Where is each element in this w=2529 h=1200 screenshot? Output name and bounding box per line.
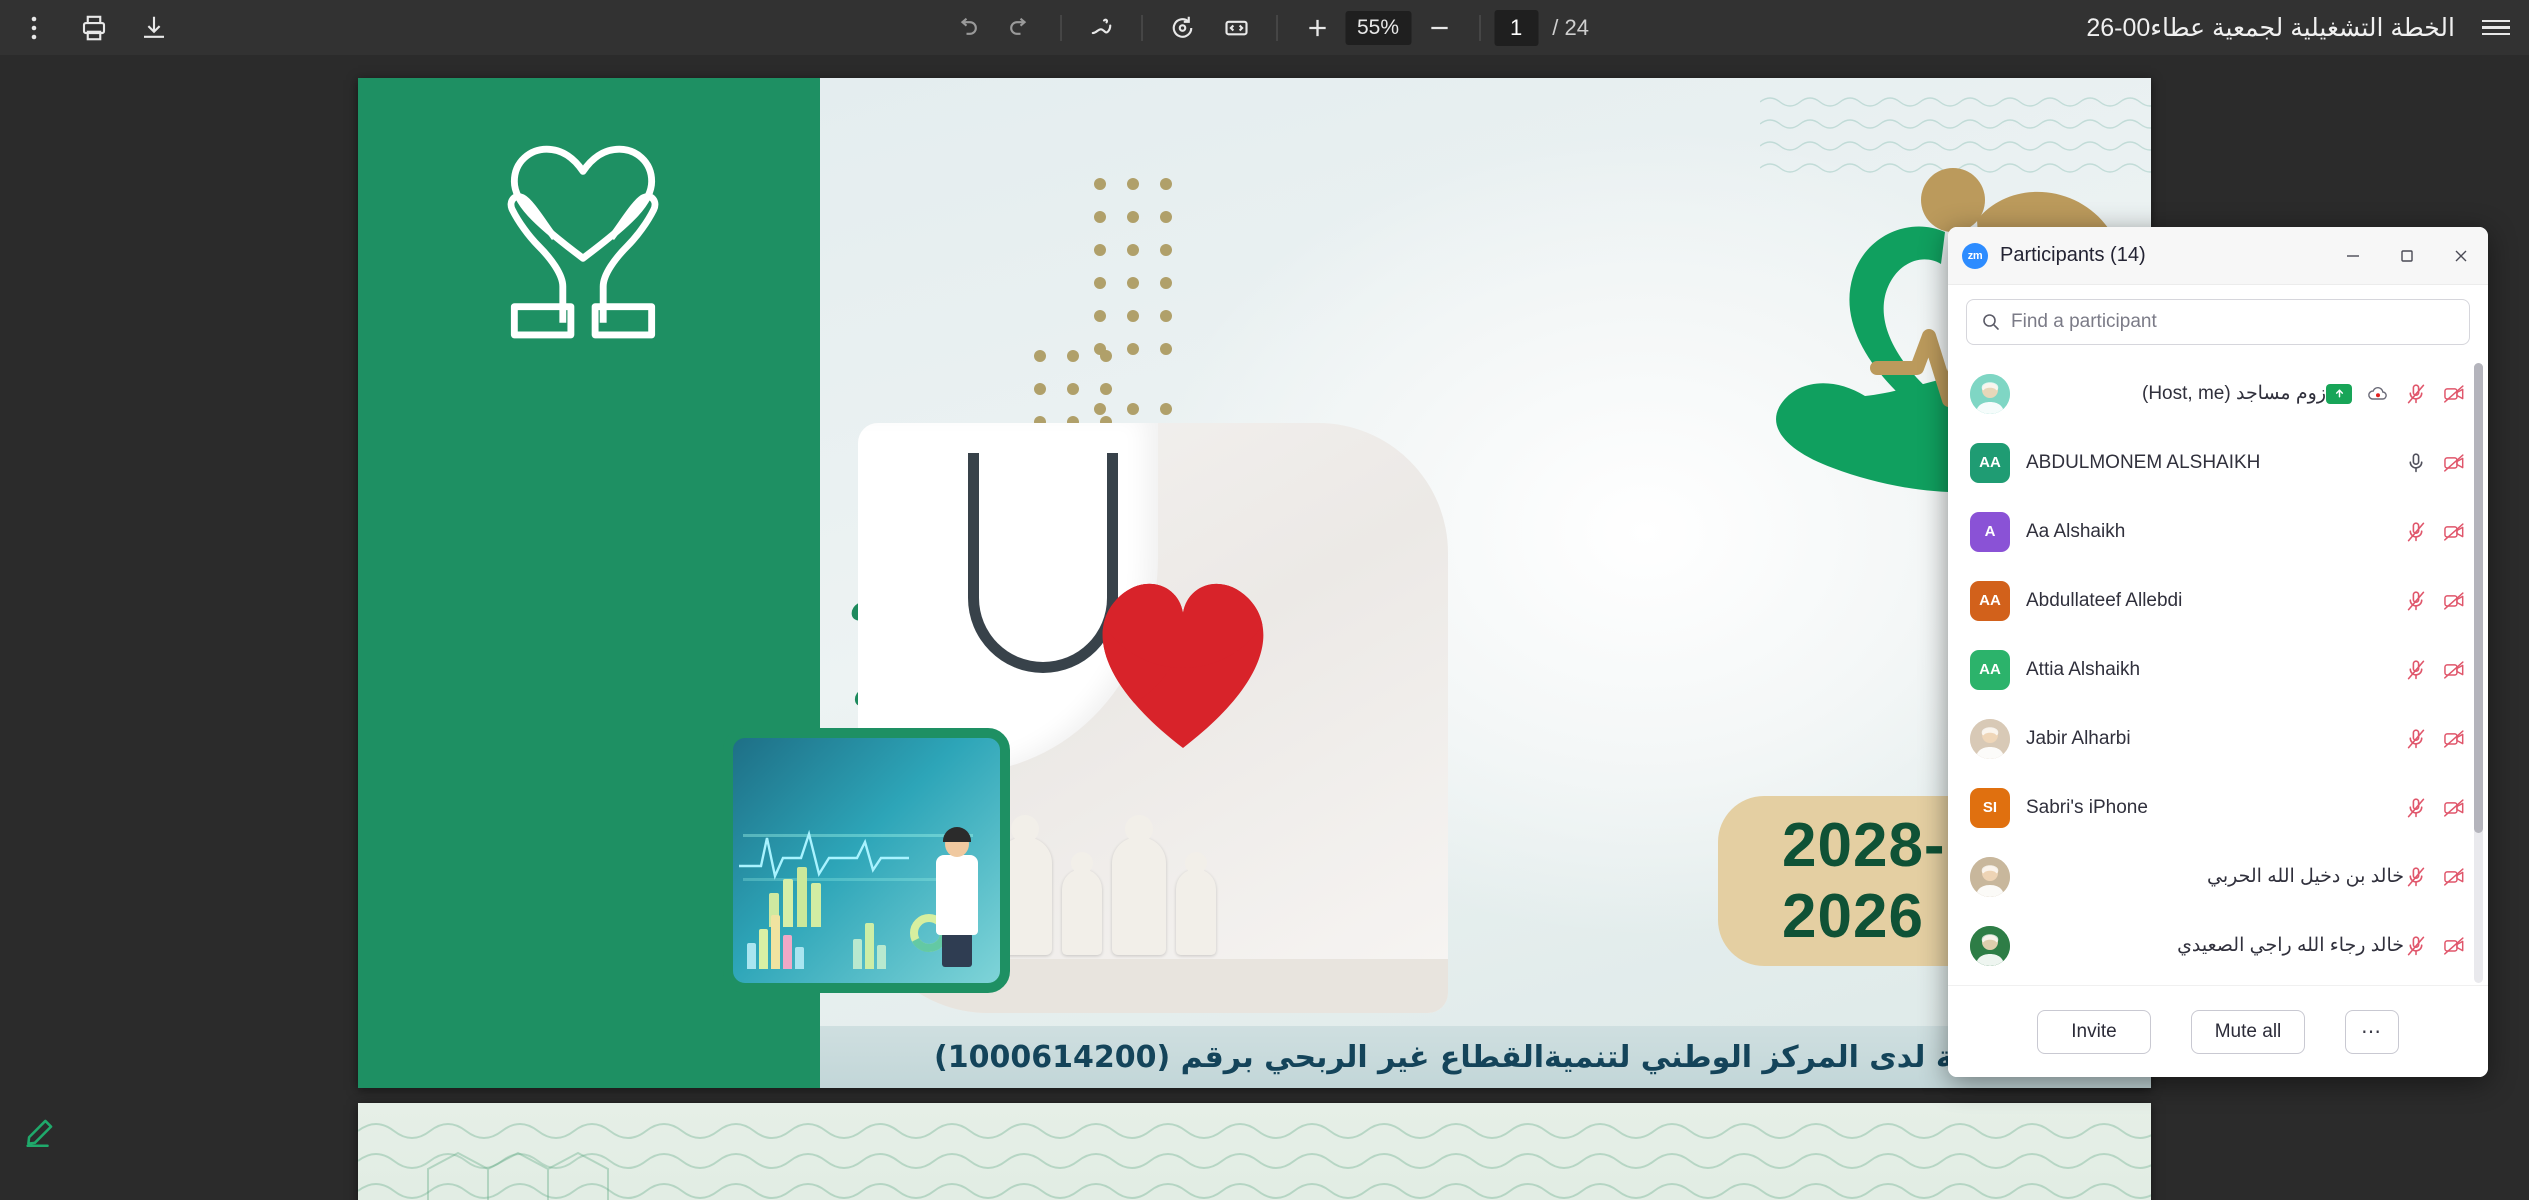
avatar: A bbox=[1970, 512, 2010, 552]
participant-status-icons bbox=[2404, 520, 2466, 544]
kebab-menu-icon[interactable] bbox=[8, 5, 60, 51]
print-icon[interactable] bbox=[68, 5, 120, 51]
pdf-viewer[interactable]: ة التشغيلية لجمعية اء للخدمات الصحية 202… bbox=[0, 55, 2529, 1200]
mic-on-icon[interactable] bbox=[2404, 451, 2428, 475]
avatar: SI bbox=[1970, 788, 2010, 828]
participant-status-icons bbox=[2404, 934, 2466, 958]
search-icon bbox=[1981, 312, 2001, 332]
participant-row[interactable]: SISabri's iPhone bbox=[1948, 773, 2488, 842]
mic-muted-icon[interactable] bbox=[2404, 934, 2428, 958]
participant-row[interactable]: AAa Alshaikh bbox=[1948, 497, 2488, 566]
participant-status-icons bbox=[2404, 796, 2466, 820]
mic-muted-icon[interactable] bbox=[2404, 658, 2428, 682]
participant-row[interactable]: AAABDULMONEM ALSHAIKH bbox=[1948, 428, 2488, 497]
search-field-container[interactable] bbox=[1966, 299, 2470, 345]
doctor-avatar-illustration bbox=[930, 821, 984, 971]
participant-name: خالد رجاء الله راجي الصعيدي bbox=[2026, 934, 2404, 957]
video-off-icon[interactable] bbox=[2442, 658, 2466, 682]
mute-all-button[interactable]: Mute all bbox=[2191, 1010, 2305, 1054]
zoom-out-button[interactable] bbox=[1413, 5, 1465, 51]
avatar: AA bbox=[1970, 650, 2010, 690]
scrollbar-thumb[interactable] bbox=[2474, 363, 2483, 833]
mic-muted-icon[interactable] bbox=[2404, 589, 2428, 613]
video-off-icon[interactable] bbox=[2442, 520, 2466, 544]
zoom-in-button[interactable] bbox=[1291, 5, 1343, 51]
signature-draw-icon[interactable] bbox=[1075, 5, 1127, 51]
redo-icon[interactable] bbox=[994, 5, 1046, 51]
participants-footer: Invite Mute all ⋯ bbox=[1948, 985, 2488, 1077]
stethoscope-shape bbox=[968, 453, 1118, 673]
mic-muted-icon[interactable] bbox=[2404, 796, 2428, 820]
toolbar-divider bbox=[1060, 15, 1061, 41]
more-options-button[interactable]: ⋯ bbox=[2345, 1010, 2399, 1054]
toolbar-divider-2 bbox=[1141, 15, 1142, 41]
participant-name: زوم مساجد (Host, me) bbox=[2026, 382, 2326, 405]
video-off-icon[interactable] bbox=[2442, 727, 2466, 751]
participant-name: ABDULMONEM ALSHAIKH bbox=[2026, 452, 2404, 474]
participants-panel-title: Participants (14) bbox=[2000, 244, 2326, 267]
participant-status-icons bbox=[2404, 658, 2466, 682]
participant-name: خالد بن دخيل الله الحربي bbox=[2026, 865, 2404, 888]
toolbar-left-group bbox=[0, 5, 180, 51]
undo-icon[interactable] bbox=[940, 5, 992, 51]
participant-name: Aa Alshaikh bbox=[2026, 521, 2404, 543]
zoom-level-value[interactable]: 55% bbox=[1345, 11, 1411, 45]
close-icon[interactable] bbox=[2434, 227, 2488, 285]
mic-muted-icon[interactable] bbox=[2404, 520, 2428, 544]
avatar bbox=[1970, 926, 2010, 966]
participant-row[interactable]: خالد بن دخيل الله الحربي bbox=[1948, 842, 2488, 911]
video-off-icon[interactable] bbox=[2442, 382, 2466, 406]
ecg-line bbox=[739, 824, 909, 884]
maximize-icon[interactable] bbox=[2380, 227, 2434, 285]
participant-status-icons bbox=[2404, 589, 2466, 613]
mic-muted-icon[interactable] bbox=[2404, 382, 2428, 406]
participant-status-icons bbox=[2404, 451, 2466, 475]
avatar: AA bbox=[1970, 581, 2010, 621]
participants-panel[interactable]: zm Participants (14) زوم bbox=[1948, 227, 2488, 1077]
avatar bbox=[1970, 857, 2010, 897]
record-cloud-icon[interactable] bbox=[2366, 382, 2390, 406]
participants-titlebar: zm Participants (14) bbox=[1948, 227, 2488, 285]
participant-row[interactable]: زوم مساجد (Host, me) bbox=[1948, 359, 2488, 428]
video-off-icon[interactable] bbox=[2442, 796, 2466, 820]
search-input[interactable] bbox=[2011, 311, 2455, 333]
participant-name: Sabri's iPhone bbox=[2026, 797, 2404, 819]
current-page-input[interactable]: 1 bbox=[1494, 10, 1538, 46]
avatar: AA bbox=[1970, 443, 2010, 483]
participants-list[interactable]: زوم مساجد (Host, me)AAABDULMONEM ALSHAIK… bbox=[1948, 355, 2488, 985]
video-off-icon[interactable] bbox=[2442, 865, 2466, 889]
invite-button[interactable]: Invite bbox=[2037, 1010, 2151, 1054]
doctor-dashboard-illustration bbox=[723, 728, 1010, 993]
pdf-page-2-preview bbox=[358, 1103, 2151, 1200]
avatar bbox=[1970, 719, 2010, 759]
heart-in-hands-icon bbox=[458, 133, 708, 343]
participant-row[interactable]: AAAbdullateef Allebdi bbox=[1948, 566, 2488, 635]
hex-pattern-decoration bbox=[418, 1133, 838, 1200]
participant-row[interactable]: خالد رجاء الله راجي الصعيدي bbox=[1948, 911, 2488, 980]
participant-name: Attia Alshaikh bbox=[2026, 659, 2404, 681]
mic-muted-icon[interactable] bbox=[2404, 865, 2428, 889]
pdf-toolbar: 55% 1 / 24 الخطة التشغيلية لجمعية عطاء00… bbox=[0, 0, 2529, 55]
video-off-icon[interactable] bbox=[2442, 589, 2466, 613]
minimize-icon[interactable] bbox=[2326, 227, 2380, 285]
video-off-icon[interactable] bbox=[2442, 451, 2466, 475]
hamburger-menu-icon[interactable] bbox=[2473, 5, 2519, 51]
mic-muted-icon[interactable] bbox=[2404, 727, 2428, 751]
toolbar-center-group: 55% 1 / 24 bbox=[940, 5, 1589, 51]
participant-status-icons bbox=[2404, 865, 2466, 889]
participant-name: Jabir Alharbi bbox=[2026, 728, 2404, 750]
participant-name: Abdullateef Allebdi bbox=[2026, 590, 2404, 612]
registration-text: مسجلة لدى المركز الوطني لتنميةالقطاع غير… bbox=[934, 1040, 2037, 1075]
toolbar-divider-4 bbox=[1479, 15, 1480, 41]
vertical-scrollbar[interactable] bbox=[2474, 363, 2483, 983]
fit-width-icon[interactable] bbox=[1210, 5, 1262, 51]
download-icon[interactable] bbox=[128, 5, 180, 51]
avatar bbox=[1970, 374, 2010, 414]
pdf-page-1: ة التشغيلية لجمعية اء للخدمات الصحية 202… bbox=[358, 78, 2151, 1088]
page-total-label: / 24 bbox=[1552, 15, 1589, 41]
participant-status-icons bbox=[2404, 727, 2466, 751]
share-screen-badge[interactable] bbox=[2326, 384, 2352, 404]
video-off-icon[interactable] bbox=[2442, 934, 2466, 958]
toolbar-right-group: الخطة التشغيلية لجمعية عطاء00-26 bbox=[2086, 5, 2519, 51]
zoom-app-icon: zm bbox=[1962, 243, 1988, 269]
participant-status-icons bbox=[2326, 382, 2466, 406]
pencil-edit-icon[interactable] bbox=[12, 1106, 66, 1160]
rotate-icon[interactable] bbox=[1156, 5, 1208, 51]
toolbar-divider-3 bbox=[1276, 15, 1277, 41]
participant-row[interactable]: AAAttia Alshaikh bbox=[1948, 635, 2488, 704]
document-title: الخطة التشغيلية لجمعية عطاء00-26 bbox=[2086, 13, 2455, 43]
participants-search-wrap bbox=[1948, 285, 2488, 355]
participant-row[interactable]: Jabir Alharbi bbox=[1948, 704, 2488, 773]
gold-dot-grid-top bbox=[1094, 178, 1172, 376]
